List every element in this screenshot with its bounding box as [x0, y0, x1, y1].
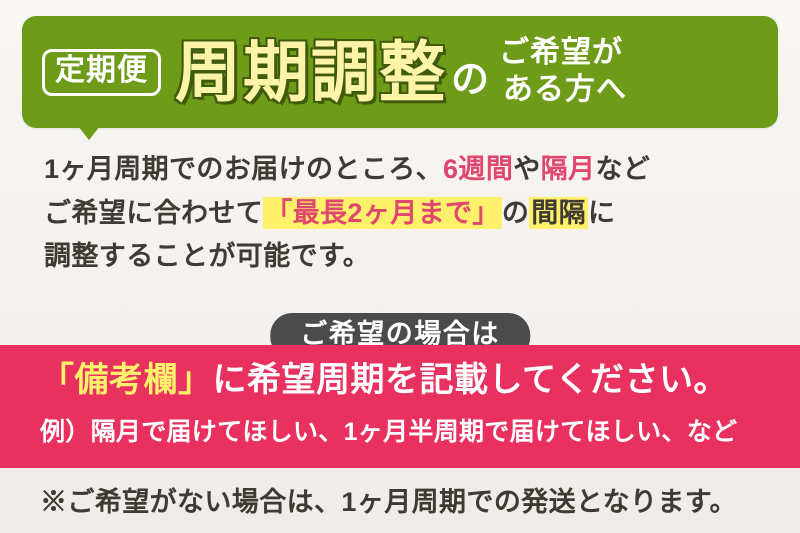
body-line2-part3: に [588, 198, 615, 228]
banner-content: 定期便 周期調整 の ご希望が ある方へ [22, 16, 778, 128]
headline-main-text: 周期調整 [175, 39, 447, 105]
footer-default-note: ※ご希望がない場合は、1ヶ月周期での発送となります。 [40, 480, 737, 519]
body-line1-highlight-6weeks: 6週間 [443, 154, 513, 184]
body-line-2: ご希望に合わせて「最長2ヶ月まで」の間隔に [44, 192, 774, 236]
banner-pointer-triangle [78, 126, 100, 140]
body-line2-part2: の [502, 198, 529, 228]
pink-band-main-rest: に希望周期を記載してください。 [213, 361, 728, 399]
headline-sub-line2: ある方へ [499, 72, 627, 109]
body-paragraph: 1ヶ月周期でのお届けのところ、6週間や隔月など ご希望に合わせて「最長2ヶ月まで… [44, 148, 774, 279]
headline-sub-line1: ご希望が [499, 35, 627, 72]
headline-sub-text: ご希望が ある方へ [499, 35, 627, 108]
body-line1-part3: など [595, 154, 650, 184]
body-line2-part1: ご希望に合わせて [44, 198, 263, 228]
pink-band-example-line: 例）隔月で届けてほしい、1ヶ月半周期で届けてほしい、など [40, 419, 737, 447]
body-line-1: 1ヶ月周期でのお届けのところ、6週間や隔月など [44, 148, 774, 192]
pink-instruction-band: 「備考欄」に希望周期を記載してください。 例）隔月で届けてほしい、1ヶ月半周期で… [0, 345, 800, 468]
promo-banner-page: 定期便 周期調整 の ご希望が ある方へ 1ヶ月周期でのお届けのところ、6週間や… [0, 0, 800, 533]
body-line2-highlight-max2months: 「最長2ヶ月まで」 [263, 197, 502, 229]
pink-band-main-line: 「備考欄」に希望周期を記載してください。 [40, 362, 728, 399]
subscription-tag: 定期便 [42, 49, 161, 96]
green-headline-banner: 定期便 周期調整 の ご希望が ある方へ [22, 16, 778, 128]
headline-particle-text: の [451, 61, 489, 99]
body-line2-highlight-interval: 間隔 [529, 197, 588, 229]
remarks-field-emphasis: 「備考欄」 [40, 361, 213, 399]
body-line-3: 調整することが可能です。 [44, 235, 774, 279]
body-line1-part1: 1ヶ月周期でのお届けのところ、 [44, 154, 443, 184]
body-line1-part2: や [513, 154, 540, 184]
body-line1-highlight-bimonthly: 隔月 [541, 154, 596, 184]
